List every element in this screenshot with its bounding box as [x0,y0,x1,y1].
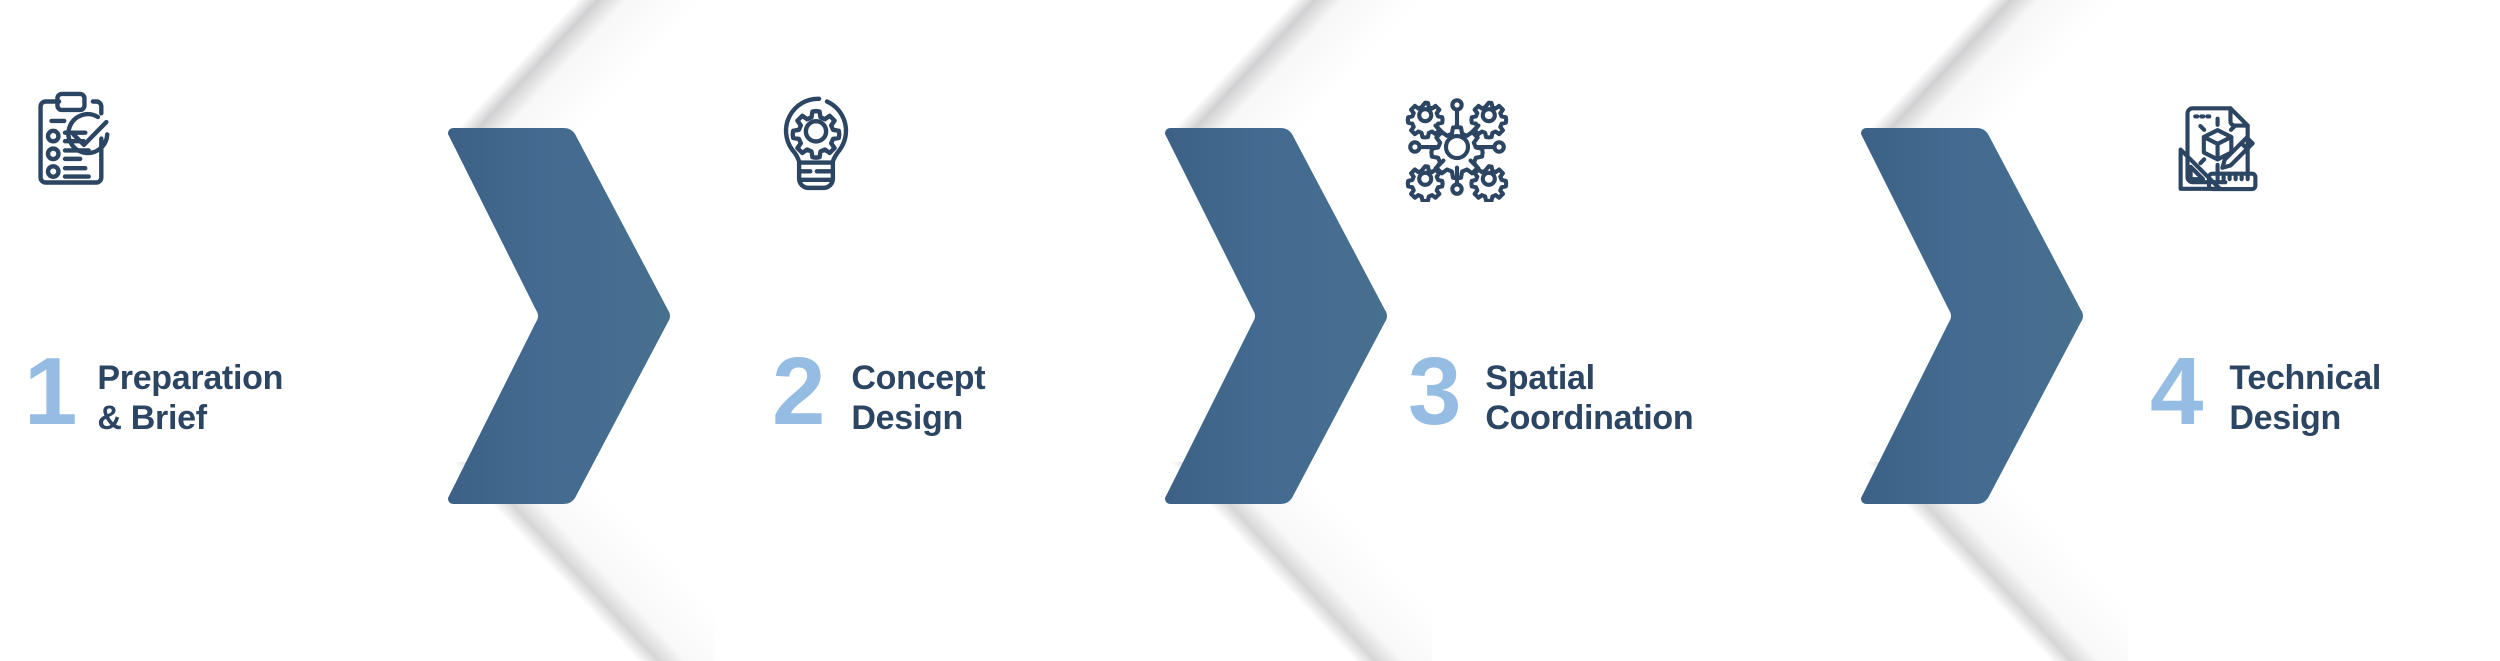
step-4-number: 4 [2150,348,2201,436]
blueprint-drafting-icon [2160,92,2270,202]
step-3-label: Spatial Coordination [1485,348,1693,438]
step-2-label-line1: Concept [851,359,985,397]
chevron-right-icon [1853,128,2085,504]
step-4-label-line2: Design [2229,398,2381,438]
step-3-label-line1: Spatial [1485,359,1594,397]
chevron-right-icon [1157,128,1389,504]
chevron-right-icon [440,128,672,504]
step-3-text: 3 Spatial Coordination [1408,348,1693,438]
step-1-label-line1: Preparation [97,359,283,397]
step-3-number: 3 [1408,348,1459,436]
gear-network-icon [1402,92,1512,202]
step-3-label-line2: Coordination [1485,398,1693,438]
step-2-label-line2: Design [851,398,985,438]
chevron-shadow-top [1828,0,2128,134]
chevron-shadow-top [1132,0,1432,134]
step-1-label-line2: & Brief [97,398,283,438]
step-2-text: 2 Concept Design [772,348,985,438]
step-4-label: Technical Design [2229,348,2381,438]
lightbulb-gear-icon [762,90,870,198]
step-4-label-line1: Technical [2229,359,2381,397]
step-2-label: Concept Design [851,348,985,438]
step-2-number: 2 [772,348,823,436]
step-1-text: 1 Preparation & Brief [24,348,283,438]
process-diagram: 1 Preparation & Brief [0,0,2500,661]
step-1-label: Preparation & Brief [97,348,283,438]
step-1-number: 1 [24,348,75,436]
clipboard-check-icon [22,88,130,196]
step-4-text: 4 Technical Design [2150,348,2381,438]
chevron-shadow-top [415,0,715,134]
